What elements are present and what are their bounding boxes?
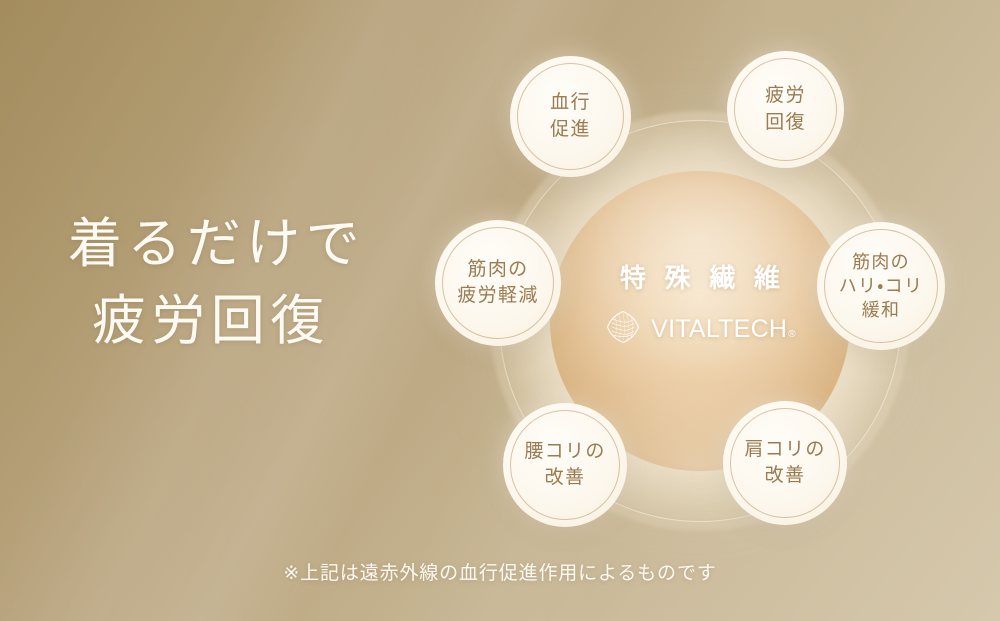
benefit-bubble-lower-back-stiffness[interactable]: 腰コリの 改善 — [503, 403, 627, 527]
benefit-bubble-muscle-stiffness-relief[interactable]: 筋肉の ハリ・コリ 緩和 — [817, 222, 945, 350]
benefit-bubble-fatigue-recovery[interactable]: 疲労 回復 — [727, 51, 844, 168]
benefit-label: 筋肉の 疲労軽減 — [457, 257, 538, 309]
page-title: 着るだけで 疲労回復 — [62, 206, 402, 359]
benefits-diagram: 特 殊 繊 維 — [415, 35, 985, 555]
brand-name-text: VITALTECH — [651, 315, 787, 343]
core-content: 特 殊 繊 維 — [550, 263, 850, 351]
core-title: 特 殊 繊 維 — [550, 263, 850, 294]
promo-banner: 着るだけで 疲労回復 特 殊 繊 維 — [0, 0, 1000, 621]
benefit-label: 肩コリの 改善 — [744, 437, 825, 489]
headline-line-1: 着るだけで — [62, 206, 402, 283]
benefit-bubble-shoulder-stiffness[interactable]: 肩コリの 改善 — [723, 401, 847, 525]
benefit-bubble-muscle-fatigue-relief[interactable]: 筋肉の 疲労軽減 — [435, 220, 561, 346]
benefit-label: 腰コリの 改善 — [524, 439, 605, 491]
headline-line-2: 疲労回復 — [62, 283, 402, 360]
footnote-disclaimer: ※上記は遠赤外線の血行促進作用によるものです — [0, 558, 1000, 585]
brand-logo: VITALTECH® — [550, 308, 850, 351]
benefit-bubble-blood-circulation[interactable]: 血行 促進 — [510, 56, 631, 177]
vitaltech-diamond-weave-icon — [604, 308, 642, 351]
benefit-label: 筋肉の ハリ・コリ 緩和 — [839, 250, 923, 322]
benefit-label: 血行 促進 — [550, 90, 591, 142]
brand-name: VITALTECH® — [651, 315, 796, 344]
registered-trademark-symbol: ® — [788, 329, 796, 340]
benefit-label: 疲労 回復 — [765, 83, 806, 135]
